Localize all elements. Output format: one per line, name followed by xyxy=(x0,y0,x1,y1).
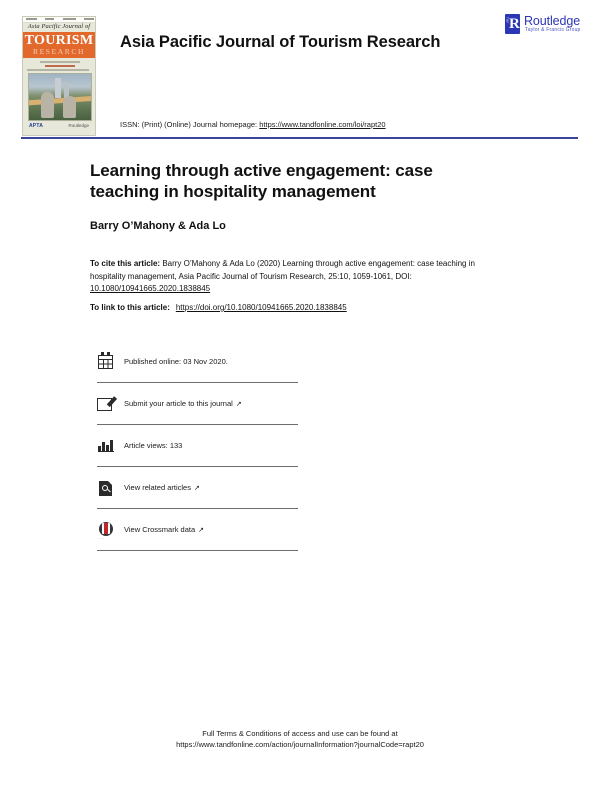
submit-article-label[interactable]: Submit your article to this journal xyxy=(124,399,233,408)
crossmark-icon: ··· xyxy=(97,521,115,539)
cover-kicker: Asia Pacific Journal of xyxy=(23,23,95,30)
metric-row-article-views: Article views: 133 xyxy=(97,424,298,466)
routledge-mark-letter: R xyxy=(509,15,520,33)
external-link-icon: ↗ xyxy=(198,526,204,534)
related-articles-label[interactable]: View related articles xyxy=(124,483,191,492)
cover-photograph xyxy=(28,73,92,121)
cover-footer-logos: APTA Routledge xyxy=(23,122,95,132)
apta-logo: APTA xyxy=(29,123,43,129)
cover-routledge-logo: Routledge xyxy=(68,123,89,128)
calendar-icon xyxy=(97,353,115,371)
article-authors: Barry O’Mahony & Ada Lo xyxy=(90,220,226,232)
cover-subtitle-lines xyxy=(27,61,93,73)
external-link-icon: ↗ xyxy=(236,400,242,408)
article-doi-link[interactable]: https://doi.org/10.1080/10941665.2020.18… xyxy=(176,303,347,312)
routledge-name: Routledge xyxy=(524,14,580,28)
article-metrics-list: Published online: 03 Nov 2020. Submit yo… xyxy=(97,341,298,551)
cover-masthead-microtext xyxy=(26,18,94,21)
link-label: To link to this article: xyxy=(90,303,170,312)
cover-photo-hand-right xyxy=(63,96,76,118)
cover-photo-hand-left xyxy=(41,92,54,118)
footer-terms-line: Full Terms & Conditions of access and us… xyxy=(0,728,600,739)
published-online-label: Published online: 03 Nov 2020. xyxy=(124,357,228,366)
page-header: Asia Pacific Journal of TOURISM RESEARCH… xyxy=(0,0,600,140)
metrics-bottom-divider xyxy=(97,550,298,551)
metric-row-related-articles[interactable]: View related articles ↗ xyxy=(97,466,298,508)
journal-cover-thumbnail: Asia Pacific Journal of TOURISM RESEARCH… xyxy=(22,16,96,136)
journal-title: Asia Pacific Journal of Tourism Research xyxy=(120,33,440,52)
issn-label: ISSN: (Print) (Online) Journal homepage: xyxy=(120,120,257,129)
cover-band-line1: TOURISM xyxy=(23,33,95,48)
metric-row-crossmark[interactable]: ··· View Crossmark data ↗ xyxy=(97,508,298,550)
page-footer: Full Terms & Conditions of access and us… xyxy=(0,728,600,750)
article-title: Learning through active engagement: case… xyxy=(90,160,480,202)
issn-line: ISSN: (Print) (Online) Journal homepage:… xyxy=(120,120,386,129)
cover-photo-tower xyxy=(55,78,61,98)
routledge-tagline: Taylor & Francis Group xyxy=(525,27,581,33)
crossmark-label[interactable]: View Crossmark data xyxy=(124,525,195,534)
pencil-square-icon xyxy=(97,395,115,413)
metric-row-published-online: Published online: 03 Nov 2020. xyxy=(97,341,298,382)
cover-band-line2: RESEARCH xyxy=(23,47,95,56)
cite-label: To cite this article: xyxy=(90,259,160,268)
journal-homepage-link[interactable]: https://www.tandfonline.com/loi/rapt20 xyxy=(259,120,385,129)
article-link-line: To link to this article:https://doi.org/… xyxy=(90,303,347,312)
routledge-mark-icon: T&F R xyxy=(505,14,520,34)
related-articles-icon xyxy=(97,479,115,497)
footer-url-line: https://www.tandfonline.com/action/journ… xyxy=(0,739,600,750)
metric-row-submit-article[interactable]: Submit your article to this journal ↗ xyxy=(97,382,298,424)
routledge-logo: T&F R Routledge Taylor & Francis Group xyxy=(505,14,591,38)
external-link-icon: ↗ xyxy=(194,484,200,492)
citation-block: To cite this article: Barry O’Mahony & A… xyxy=(90,258,512,296)
cite-doi-link[interactable]: 10.1080/10941665.2020.1838845 xyxy=(90,284,210,293)
header-divider xyxy=(21,137,578,139)
bar-chart-icon xyxy=(97,437,115,455)
article-views-label: Article views: 133 xyxy=(124,441,182,450)
cover-title-band: TOURISM RESEARCH xyxy=(23,32,95,58)
